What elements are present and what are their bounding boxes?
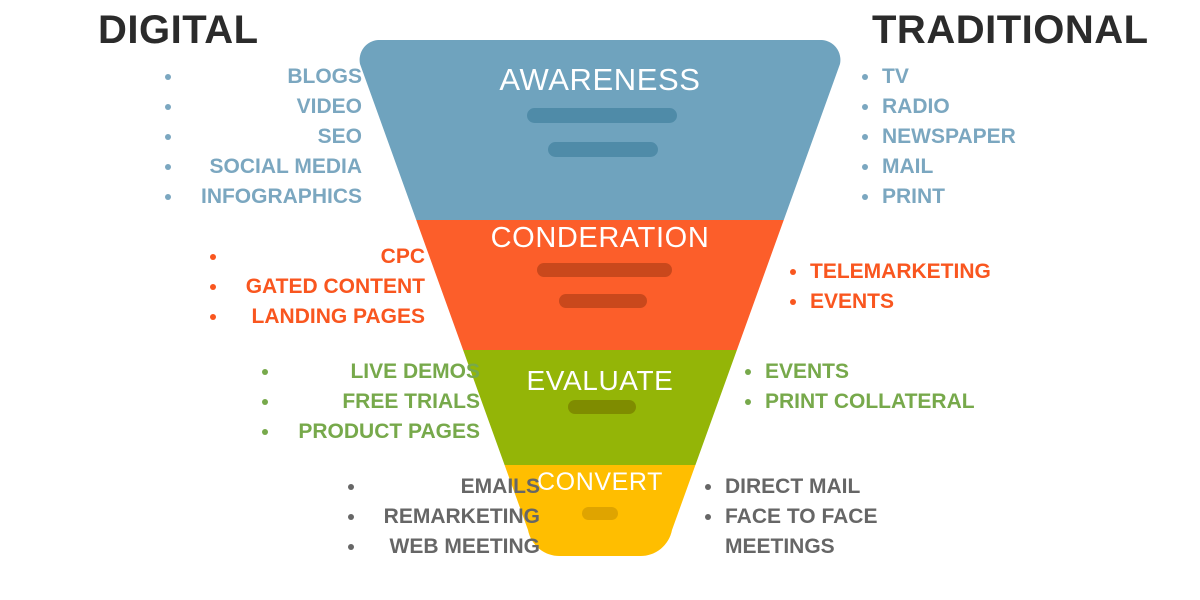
list-item[interactable]: BLOGS bbox=[183, 62, 362, 92]
bullet-icon bbox=[348, 484, 354, 490]
bullet-icon bbox=[165, 134, 171, 140]
funnel-label-conderation: CONDERATION bbox=[360, 224, 840, 253]
funnel-infographic: AWARENESS CONDERATION EVALUATE CONVERT D… bbox=[0, 0, 1200, 600]
bullet-icon bbox=[165, 194, 171, 200]
list-item[interactable]: NEWSPAPER bbox=[862, 122, 1016, 152]
bullet-icon bbox=[210, 254, 216, 260]
list-item[interactable]: CPC bbox=[228, 242, 425, 272]
bullet-icon bbox=[862, 164, 868, 170]
bullet-icon bbox=[745, 369, 751, 375]
list-item[interactable]: DIRECT MAIL bbox=[705, 472, 877, 502]
bullet-icon bbox=[790, 299, 796, 305]
digital-awareness-list: BLOGS VIDEO SEO SOCIAL MEDIA INFOGRAPHIC… bbox=[183, 62, 362, 212]
bullet-icon bbox=[862, 104, 868, 110]
list-item[interactable]: TELEMARKETING bbox=[790, 257, 991, 287]
list-item[interactable]: SOCIAL MEDIA bbox=[183, 152, 362, 182]
list-item[interactable]: VIDEO bbox=[183, 92, 362, 122]
list-item[interactable]: EMAILS bbox=[366, 472, 540, 502]
list-item[interactable]: LIVE DEMOS bbox=[280, 357, 480, 387]
list-item[interactable]: PRINT bbox=[862, 182, 1016, 212]
convert-bar-1 bbox=[582, 507, 618, 520]
awareness-bar-2 bbox=[548, 142, 658, 157]
list-item[interactable]: GATED CONTENT bbox=[228, 272, 425, 302]
list-item[interactable]: PRINT COLLATERAL bbox=[745, 387, 975, 417]
digital-conderation-list: CPC GATED CONTENT LANDING PAGES bbox=[228, 242, 425, 332]
traditional-conderation-list: TELEMARKETING EVENTS bbox=[790, 257, 991, 317]
page-title-digital: DIGITAL bbox=[98, 10, 259, 50]
bullet-icon bbox=[745, 399, 751, 405]
awareness-bar-1 bbox=[527, 108, 677, 123]
bullet-icon bbox=[790, 269, 796, 275]
conderation-bar-1 bbox=[537, 263, 672, 277]
bullet-icon bbox=[210, 284, 216, 290]
bullet-icon bbox=[165, 74, 171, 80]
list-item[interactable]: SEO bbox=[183, 122, 362, 152]
bullet-icon bbox=[862, 194, 868, 200]
traditional-evaluate-list: EVENTS PRINT COLLATERAL bbox=[745, 357, 975, 417]
bullet-icon bbox=[705, 514, 711, 520]
list-item[interactable]: INFOGRAPHICS bbox=[183, 182, 362, 212]
list-item[interactable]: TV bbox=[862, 62, 1016, 92]
list-item[interactable]: EVENTS bbox=[745, 357, 975, 387]
list-item-continuation[interactable]: MEETINGS bbox=[705, 532, 877, 562]
evaluate-bar-1 bbox=[568, 400, 636, 414]
traditional-awareness-list: TV RADIO NEWSPAPER MAIL PRINT bbox=[862, 62, 1016, 212]
list-item[interactable]: RADIO bbox=[862, 92, 1016, 122]
bullet-icon bbox=[862, 74, 868, 80]
funnel-label-awareness: AWARENESS bbox=[360, 64, 840, 95]
bullet-icon bbox=[165, 164, 171, 170]
list-item[interactable]: FREE TRIALS bbox=[280, 387, 480, 417]
evaluate-bar-group bbox=[568, 400, 636, 414]
bullet-icon bbox=[348, 544, 354, 550]
bullet-icon bbox=[705, 484, 711, 490]
bullet-icon bbox=[210, 314, 216, 320]
page-title-traditional: TRADITIONAL bbox=[872, 10, 1149, 50]
bullet-icon bbox=[862, 134, 868, 140]
bullet-icon bbox=[348, 514, 354, 520]
list-item[interactable]: MAIL bbox=[862, 152, 1016, 182]
list-item[interactable]: WEB MEETING bbox=[366, 532, 540, 562]
list-item[interactable]: PRODUCT PAGES bbox=[280, 417, 480, 447]
digital-convert-list: EMAILS REMARKETING WEB MEETING bbox=[366, 472, 540, 562]
traditional-convert-list: DIRECT MAIL FACE TO FACE MEETINGS bbox=[705, 472, 877, 562]
list-item[interactable]: REMARKETING bbox=[366, 502, 540, 532]
list-item[interactable]: EVENTS bbox=[790, 287, 991, 317]
convert-bar-group bbox=[582, 507, 618, 520]
bullet-icon bbox=[165, 104, 171, 110]
list-item[interactable]: LANDING PAGES bbox=[228, 302, 425, 332]
list-item[interactable]: FACE TO FACE bbox=[705, 502, 877, 532]
conderation-bar-2 bbox=[559, 294, 647, 308]
digital-evaluate-list: LIVE DEMOS FREE TRIALS PRODUCT PAGES bbox=[280, 357, 480, 447]
